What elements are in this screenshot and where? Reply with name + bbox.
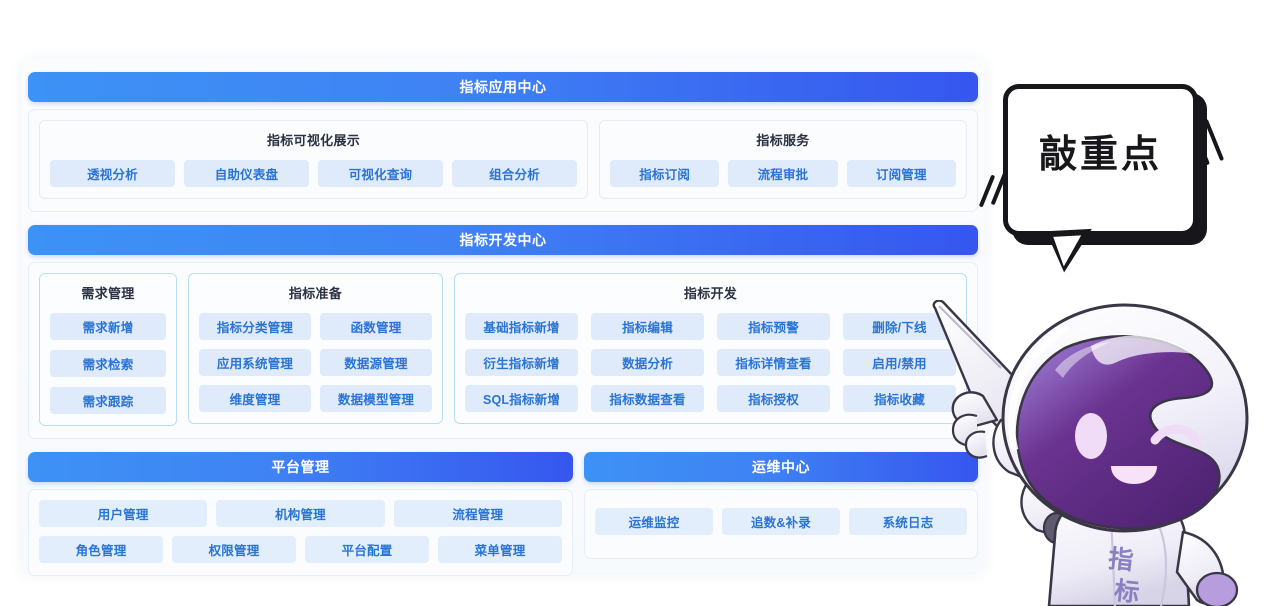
- tile-basic-metric-add[interactable]: 基础指标新增: [465, 313, 578, 340]
- mascot-body-label-line1: 指: [1107, 544, 1135, 575]
- tile-subscription-mgmt[interactable]: 订阅管理: [847, 160, 956, 187]
- tile-row-metric-service: 指标订阅 流程审批 订阅管理: [610, 160, 956, 187]
- tile-metric-data-view[interactable]: 指标数据查看: [591, 385, 704, 412]
- group-visual-display: 指标可视化展示 透视分析 自助仪表盘 可视化查询 组合分析: [39, 120, 588, 199]
- tile-requirement-track[interactable]: 需求跟踪: [50, 387, 166, 414]
- tile-requirement-add[interactable]: 需求新增: [50, 313, 166, 340]
- tile-col-requirement-mgmt: 需求新增 需求检索 需求跟踪: [50, 313, 166, 414]
- tile-metric-edit[interactable]: 指标编辑: [591, 313, 704, 340]
- tile-menu-mgmt[interactable]: 菜单管理: [438, 536, 562, 563]
- tile-derived-metric-add[interactable]: 衍生指标新增: [465, 349, 578, 376]
- tile-combination-analysis[interactable]: 组合分析: [452, 160, 577, 187]
- tile-platform-config[interactable]: 平台配置: [305, 536, 429, 563]
- tile-metric-authorize[interactable]: 指标授权: [717, 385, 830, 412]
- panel-body-app-center: 指标可视化展示 透视分析 自助仪表盘 可视化查询 组合分析 指标服务: [28, 109, 978, 212]
- panel-body-platform-mgmt: 用户管理 机构管理 流程管理 角色管理 权限管理 平台配置 菜单管理: [28, 489, 573, 576]
- group-title-requirement-mgmt: 需求管理: [50, 283, 166, 302]
- mascot-body-label-line2: 标: [1113, 576, 1141, 606]
- tile-role-mgmt[interactable]: 角色管理: [39, 536, 163, 563]
- tile-ops-monitor[interactable]: 运维监控: [595, 508, 713, 535]
- group-requirement-mgmt: 需求管理 需求新增 需求检索 需求跟踪: [39, 273, 177, 426]
- section-header-app-center: 指标应用中心: [28, 72, 978, 102]
- tile-self-service-dashboard[interactable]: 自助仪表盘: [184, 160, 309, 187]
- hand-right-icon: [1197, 573, 1237, 606]
- tile-backfill-data[interactable]: 追数&补录: [722, 508, 840, 535]
- architecture-diagram-page: 指标应用中心 指标可视化展示 透视分析 自助仪表盘 可视化查询 组合分析: [0, 0, 1280, 606]
- tile-metric-detail-view[interactable]: 指标详情查看: [717, 349, 830, 376]
- callout-text: 敲重点: [1008, 135, 1193, 173]
- group-title-metric-service: 指标服务: [610, 130, 956, 149]
- mascot-robot: 指 标: [905, 300, 1280, 606]
- tile-row-platform-1: 用户管理 机构管理 流程管理: [39, 500, 562, 527]
- tile-visual-query[interactable]: 可视化查询: [318, 160, 443, 187]
- tile-process-mgmt[interactable]: 流程管理: [394, 500, 562, 527]
- panel-body-dev-center: 需求管理 需求新增 需求检索 需求跟踪 指标准备 指标分: [28, 262, 978, 439]
- tile-metric-alert[interactable]: 指标预警: [717, 313, 830, 340]
- tile-dimension-mgmt[interactable]: 维度管理: [199, 385, 311, 412]
- row-bottom-sections: 平台管理 用户管理 机构管理 流程管理 角色管理 权限管理 平台配置 菜单管理: [28, 452, 978, 576]
- tile-process-approval[interactable]: 流程审批: [728, 160, 837, 187]
- section-platform-mgmt: 平台管理 用户管理 机构管理 流程管理 角色管理 权限管理 平台配置 菜单管理: [28, 452, 573, 576]
- tile-function-mgmt[interactable]: 函数管理: [320, 313, 432, 340]
- callout-speech-bubble: 敲重点: [985, 62, 1215, 262]
- group-title-visual-display: 指标可视化展示: [50, 130, 577, 149]
- tile-app-system-mgmt[interactable]: 应用系统管理: [199, 349, 311, 376]
- tile-metric-subscribe[interactable]: 指标订阅: [610, 160, 719, 187]
- speech-bubble-body: 敲重点: [1003, 84, 1198, 236]
- group-metric-develop: 指标开发 基础指标新增 指标编辑 指标预警 删除/下线 衍生指标新增 数据分析 …: [454, 273, 967, 424]
- section-app-center: 指标应用中心 指标可视化展示 透视分析 自助仪表盘 可视化查询 组合分析: [28, 72, 978, 212]
- tile-row-platform-2: 角色管理 权限管理 平台配置 菜单管理: [39, 536, 562, 563]
- tile-grid-metric-develop: 基础指标新增 指标编辑 指标预警 删除/下线 衍生指标新增 数据分析 指标详情查…: [465, 313, 956, 412]
- tile-grid-metric-prepare: 指标分类管理 函数管理 应用系统管理 数据源管理 维度管理 数据模型管理: [199, 313, 432, 412]
- group-title-metric-develop: 指标开发: [465, 283, 956, 302]
- tile-data-analysis[interactable]: 数据分析: [591, 349, 704, 376]
- tile-datasource-mgmt[interactable]: 数据源管理: [320, 349, 432, 376]
- group-metric-service: 指标服务 指标订阅 流程审批 订阅管理: [599, 120, 967, 199]
- tile-org-mgmt[interactable]: 机构管理: [216, 500, 384, 527]
- tile-perspective-analysis[interactable]: 透视分析: [50, 160, 175, 187]
- architecture-card: 指标应用中心 指标可视化展示 透视分析 自助仪表盘 可视化查询 组合分析: [22, 58, 984, 572]
- spark-line-icon: [1204, 119, 1224, 161]
- section-header-dev-center: 指标开发中心: [28, 225, 978, 255]
- eye-left-icon: [1075, 413, 1107, 459]
- tile-sql-metric-add[interactable]: SQL指标新增: [465, 385, 578, 412]
- mascot-robot-illustration: 指 标: [905, 300, 1280, 606]
- section-dev-center: 指标开发中心 需求管理 需求新增 需求检索 需求跟踪: [28, 225, 978, 439]
- tile-row-visual-display: 透视分析 自助仪表盘 可视化查询 组合分析: [50, 160, 577, 187]
- tile-data-model-mgmt[interactable]: 数据模型管理: [320, 385, 432, 412]
- tile-permission-mgmt[interactable]: 权限管理: [172, 536, 296, 563]
- tile-user-mgmt[interactable]: 用户管理: [39, 500, 207, 527]
- speech-bubble-tail-icon: [1046, 229, 1094, 273]
- section-header-platform-mgmt: 平台管理: [28, 452, 573, 482]
- mascot-helmet: [1003, 305, 1247, 531]
- group-metric-prepare: 指标准备 指标分类管理 函数管理 应用系统管理 数据源管理 维度管理 数据模型管…: [188, 273, 443, 424]
- tile-requirement-search[interactable]: 需求检索: [50, 350, 166, 377]
- group-title-metric-prepare: 指标准备: [199, 283, 432, 302]
- tile-metric-category-mgmt[interactable]: 指标分类管理: [199, 313, 311, 340]
